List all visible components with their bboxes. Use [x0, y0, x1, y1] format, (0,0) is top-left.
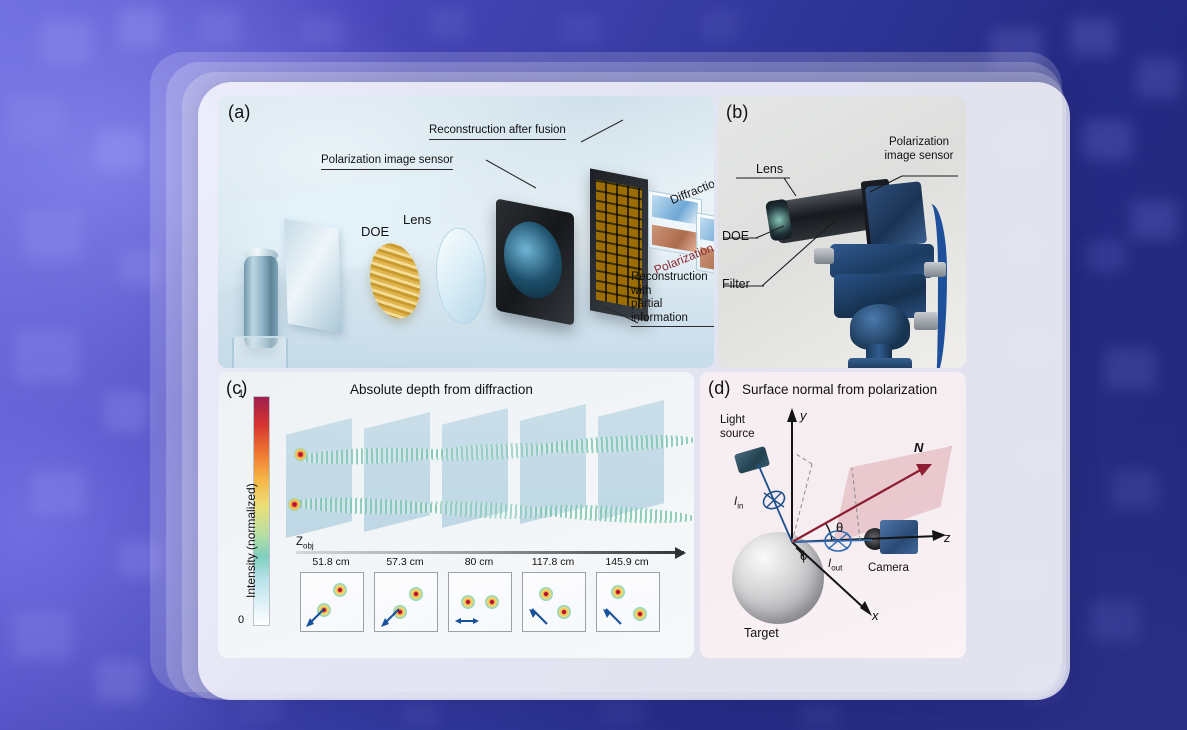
- panel-b: (b) Polarization image sensor Lens DOE F…: [718, 96, 966, 368]
- label-reconstruction-partial-information: Reconstruction with partial information: [631, 271, 714, 327]
- b-label-doe: DOE: [722, 229, 749, 244]
- z-axis-arrow: [296, 551, 684, 554]
- panel-c-label: (c): [226, 378, 248, 399]
- d-label-light-source: Light source: [720, 414, 755, 442]
- d-label-camera: Camera: [868, 562, 909, 576]
- d-target-sphere: [732, 532, 824, 624]
- target-cylinder: [244, 256, 278, 348]
- z-axis-label: Zobj: [296, 536, 314, 550]
- panel-d: (d) Surface normal from polarization: [700, 372, 966, 658]
- inset-label-3: 117.8 cm: [522, 556, 584, 568]
- label-polarization-image-sensor: Polarization image sensor: [321, 154, 453, 170]
- colorbar-axis-label: Intensity (normalized): [244, 483, 258, 598]
- b-tripod-head: [830, 244, 934, 278]
- d-label-theta: θ: [836, 520, 843, 535]
- inset-label-1: 57.3 cm: [374, 556, 436, 568]
- d-light-source-box: [734, 446, 770, 474]
- inset-psf-4: [596, 572, 660, 632]
- d-label-phi: ϕ: [800, 548, 807, 563]
- panel-d-label: (d): [708, 378, 731, 399]
- diffraction-volume: [286, 406, 690, 554]
- inset-psf-2: [448, 572, 512, 632]
- label-doe: DOE: [361, 224, 389, 239]
- b-polarization-camera-body: [865, 181, 927, 249]
- d-camera-body: [880, 520, 918, 554]
- panel-a: Zmax Zmin (a) Reconstruction after fusio…: [218, 96, 714, 368]
- d-axis-x: x: [872, 608, 879, 623]
- figure-canvas: Zmax Zmin (a) Reconstruction after fusio…: [0, 0, 1187, 730]
- d-label-i-out: Iout: [828, 558, 842, 573]
- d-label-i-in: Iin: [734, 496, 743, 511]
- target-mirror-plate: [284, 219, 342, 333]
- d-axis-y: y: [800, 408, 807, 423]
- colorbar-max-label: 1: [238, 388, 244, 400]
- d-axis-z: z: [944, 530, 951, 545]
- label-reconstruction-after-fusion: Reconstruction after fusion: [429, 124, 566, 140]
- b-tripod-knob-right: [924, 262, 946, 277]
- inset-psf-0: [300, 572, 364, 632]
- d-label-target: Target: [744, 626, 779, 641]
- target-glass-beaker: [232, 336, 288, 368]
- label-lens: Lens: [403, 212, 431, 227]
- inset-label-2: 80 cm: [448, 556, 510, 568]
- panel-a-label: (a): [228, 102, 251, 123]
- panel-c: (c) Absolute depth from diffraction 1 0 …: [218, 372, 694, 658]
- b-tripod-knob-left: [814, 248, 834, 264]
- b-tripod-knob-lower: [914, 312, 938, 330]
- panel-b-label: (b): [726, 102, 749, 123]
- inset-label-4: 145.9 cm: [596, 556, 658, 568]
- b-tripod-base: [848, 358, 912, 368]
- panel-c-title: Absolute depth from diffraction: [350, 382, 533, 397]
- inset-psf-3: [522, 572, 586, 632]
- b-label-polarization-image-sensor: Polarization image sensor: [876, 136, 962, 163]
- inset-psf-1: [374, 572, 438, 632]
- panel-d-title: Surface normal from polarization: [742, 382, 937, 397]
- colorbar-min-label: 0: [238, 614, 244, 626]
- inset-label-0: 51.8 cm: [300, 556, 362, 568]
- b-label-lens: Lens: [756, 162, 783, 177]
- b-label-filter: Filter: [722, 277, 750, 292]
- d-label-normal: N: [914, 440, 923, 455]
